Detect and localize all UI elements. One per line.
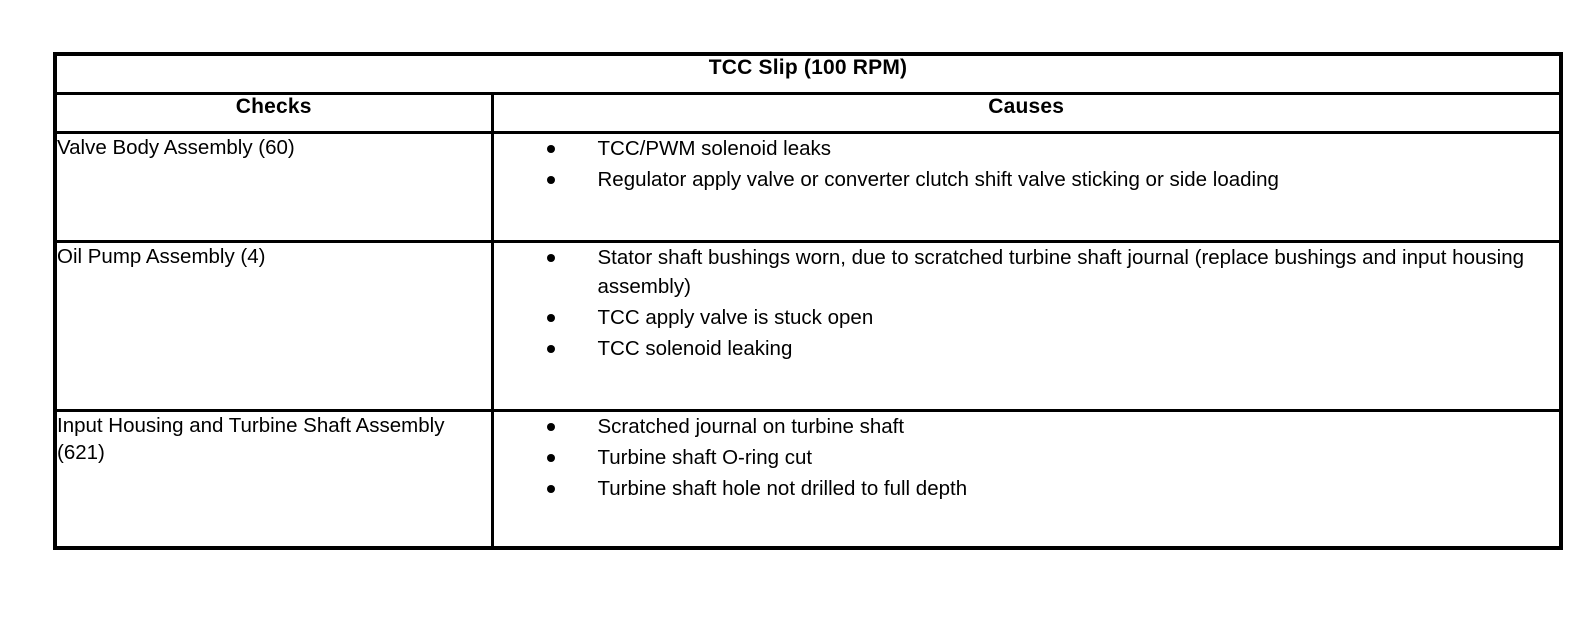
cause-text: TCC/PWM solenoid leaks [598,134,1560,163]
cause-text: Turbine shaft hole not drilled to full d… [598,474,1560,503]
bullet-icon [547,485,555,493]
causes-list: Stator shaft bushings worn, due to scrat… [494,243,1560,363]
causes-list: Scratched journal on turbine shaft Turbi… [494,412,1560,503]
causes-cell: TCC/PWM solenoid leaks Regulator apply v… [492,133,1561,242]
column-header-checks: Checks [55,94,492,133]
table-title-row: TCC Slip (100 RPM) [55,54,1561,94]
cause-text: Stator shaft bushings worn, due to scrat… [598,243,1560,301]
cause-text: TCC apply valve is stuck open [598,303,1560,332]
table-row: Valve Body Assembly (60) TCC/PWM solenoi… [55,133,1561,242]
bullet-icon [547,423,555,431]
page-canvas: TCC Slip (100 RPM) Checks Causes Valve B… [0,0,1584,622]
cause-text: Turbine shaft O-ring cut [598,443,1560,472]
bullet-icon [547,254,555,262]
check-item-label: Oil Pump Assembly (4) [55,242,492,411]
list-item: Stator shaft bushings worn, due to scrat… [494,243,1560,301]
bullet-icon [547,345,555,353]
diagnostic-table: TCC Slip (100 RPM) Checks Causes Valve B… [53,52,1563,550]
bullet-icon [547,454,555,462]
list-item: TCC apply valve is stuck open [494,303,1560,332]
table-header-row: Checks Causes [55,94,1561,133]
check-item-label: Valve Body Assembly (60) [55,133,492,242]
column-header-causes: Causes [492,94,1561,133]
causes-cell: Scratched journal on turbine shaft Turbi… [492,411,1561,549]
list-item: Turbine shaft hole not drilled to full d… [494,474,1560,503]
bullet-icon [547,314,555,322]
list-item: Scratched journal on turbine shaft [494,412,1560,441]
table-title: TCC Slip (100 RPM) [55,54,1561,94]
list-item: TCC/PWM solenoid leaks [494,134,1560,163]
bullet-icon [547,145,555,153]
list-item: Turbine shaft O-ring cut [494,443,1560,472]
check-item-label: Input Housing and Turbine Shaft Assembly… [55,411,492,549]
causes-list: TCC/PWM solenoid leaks Regulator apply v… [494,134,1560,194]
cause-text: TCC solenoid leaking [598,334,1560,363]
bullet-icon [547,176,555,184]
cause-text: Regulator apply valve or converter clutc… [598,165,1560,194]
table-row: Input Housing and Turbine Shaft Assembly… [55,411,1561,549]
list-item: Regulator apply valve or converter clutc… [494,165,1560,194]
cause-text: Scratched journal on turbine shaft [598,412,1560,441]
table-row: Oil Pump Assembly (4) Stator shaft bushi… [55,242,1561,411]
causes-cell: Stator shaft bushings worn, due to scrat… [492,242,1561,411]
list-item: TCC solenoid leaking [494,334,1560,363]
